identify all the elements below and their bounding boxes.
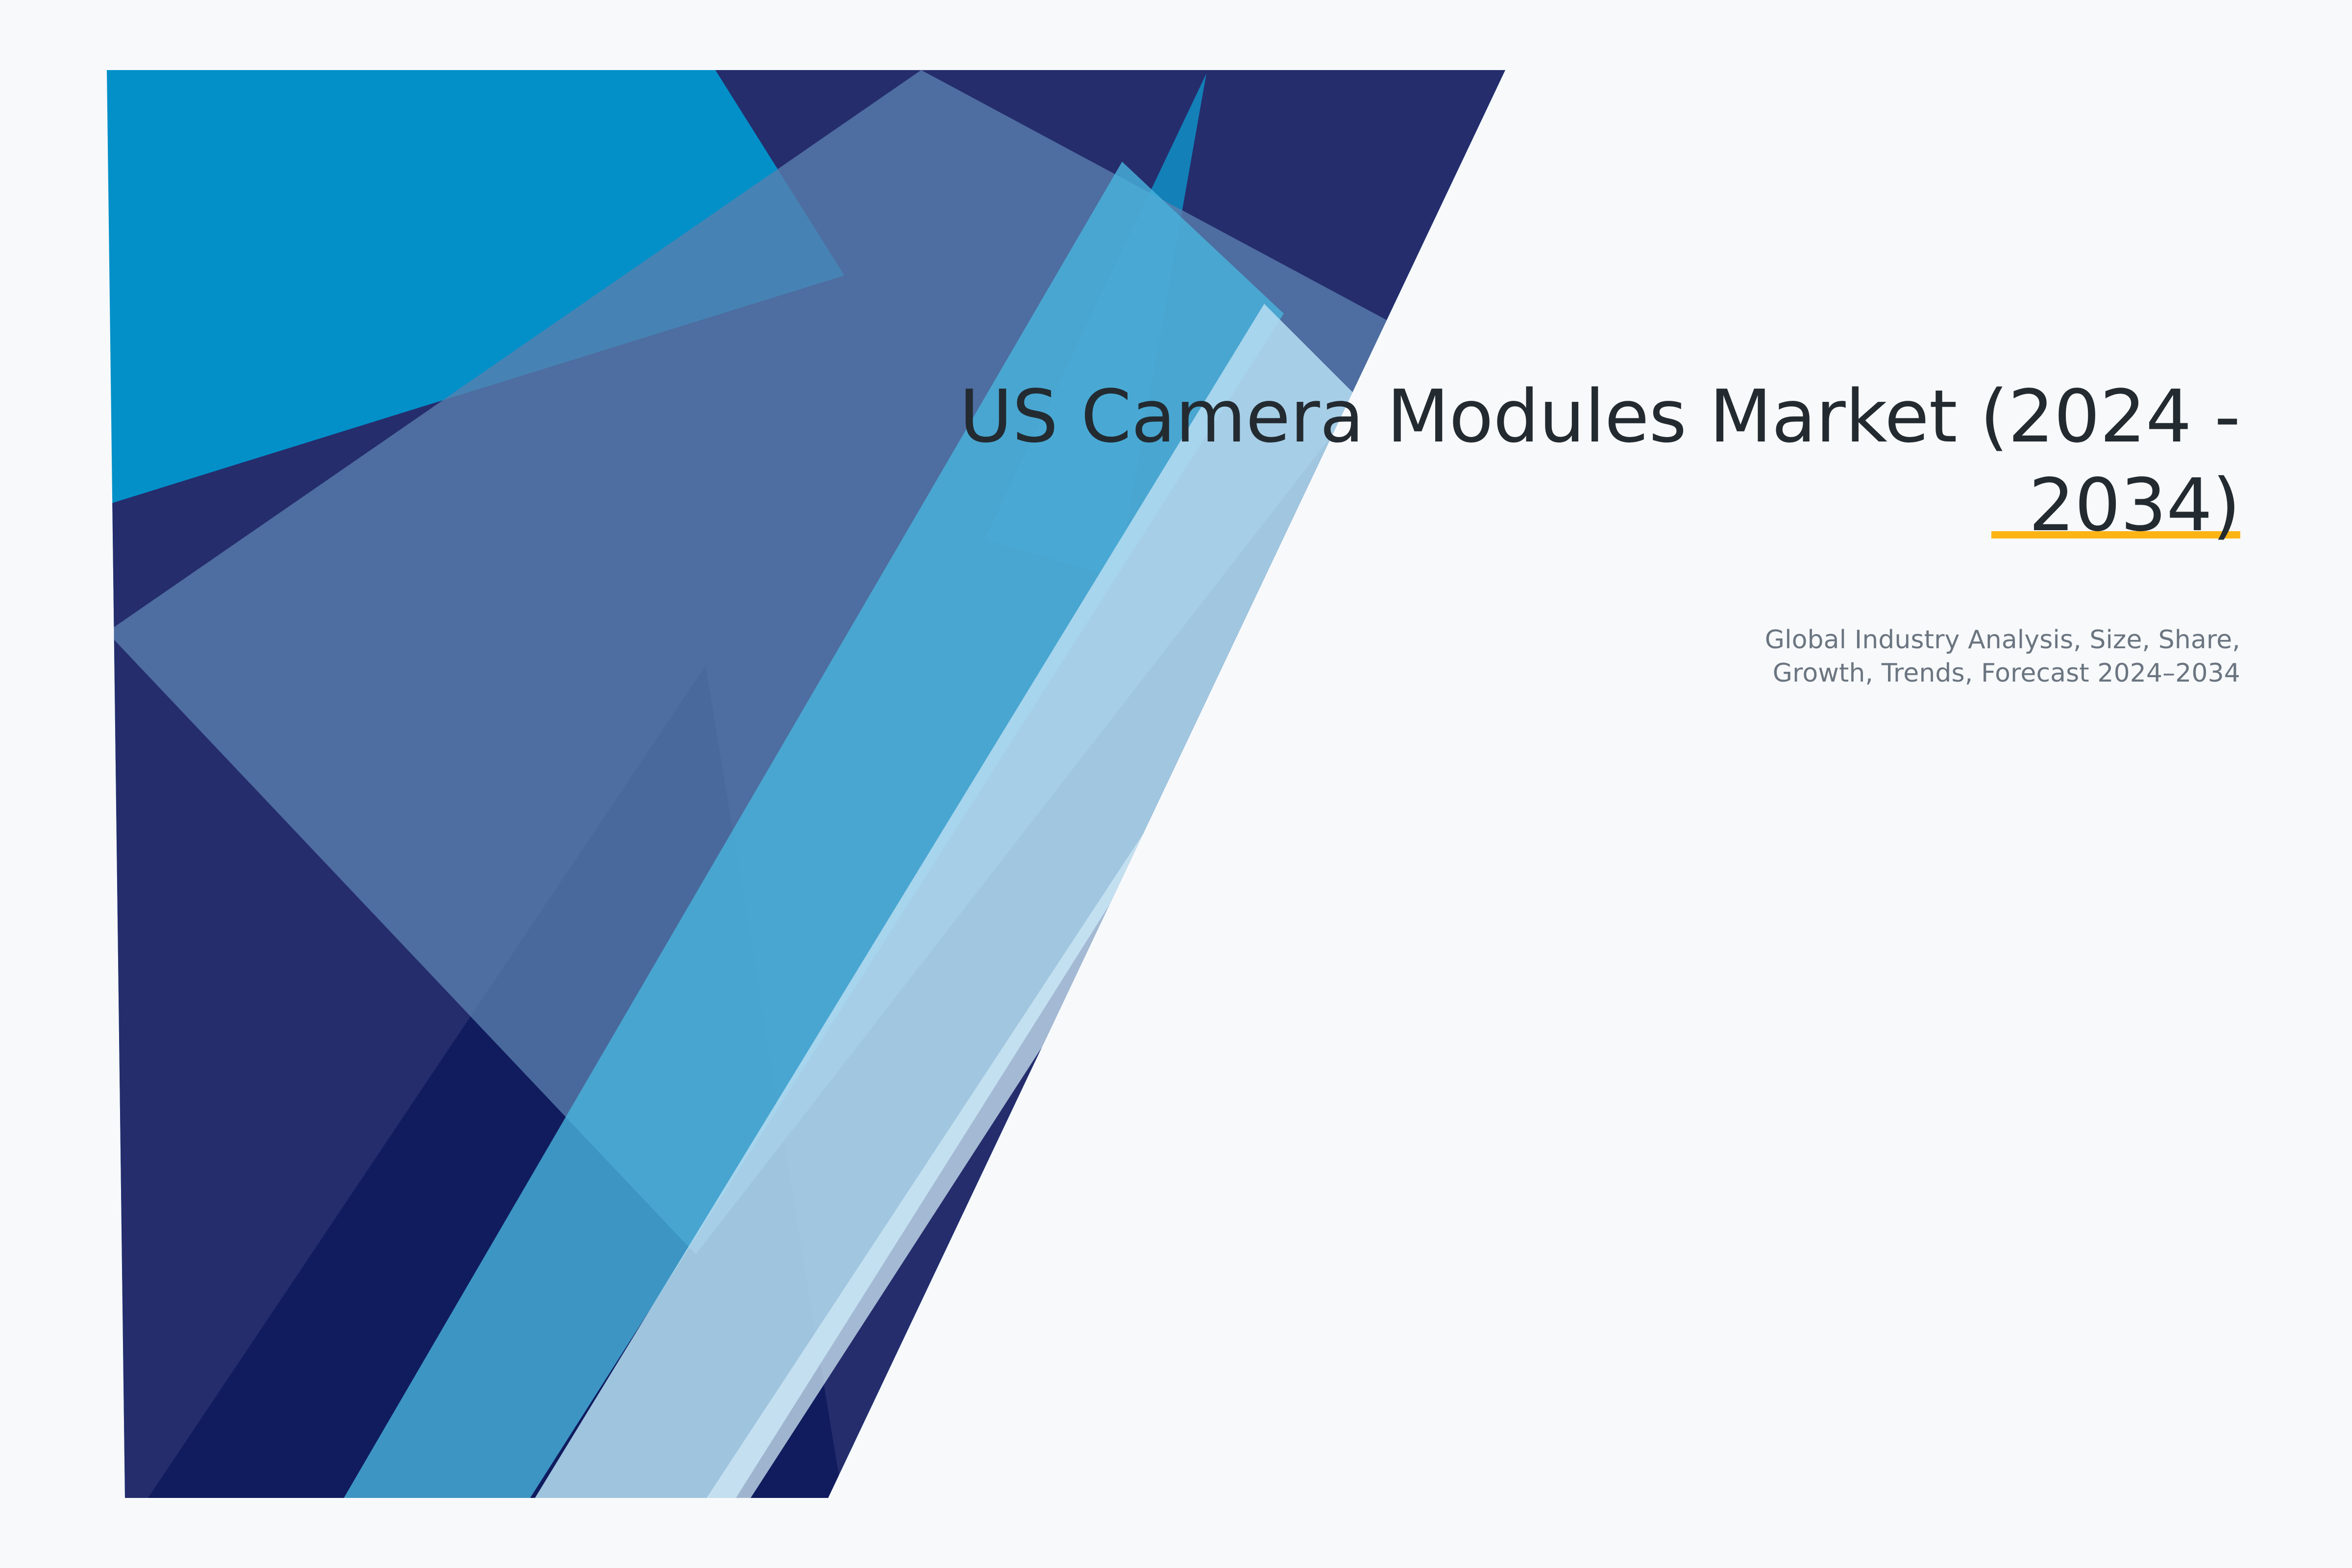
abstract-polygon-graphic: [0, 0, 2352, 1568]
slide-canvas: US Camera Modules Market (2024 - 2034) G…: [0, 0, 2352, 1568]
page-subtitle-line-1: Global Industry Analysis, Size, Share,: [937, 624, 2240, 657]
page-title: US Camera Modules Market (2024 - 2034): [937, 372, 2240, 549]
title-text-block: US Camera Modules Market (2024 - 2034) G…: [937, 372, 2240, 690]
page-subtitle: Global Industry Analysis, Size, Share, G…: [937, 549, 2240, 690]
title-wrapper: US Camera Modules Market (2024 - 2034): [937, 372, 2240, 549]
page-subtitle-line-2: Growth, Trends, Forecast 2024–2034: [937, 657, 2240, 690]
